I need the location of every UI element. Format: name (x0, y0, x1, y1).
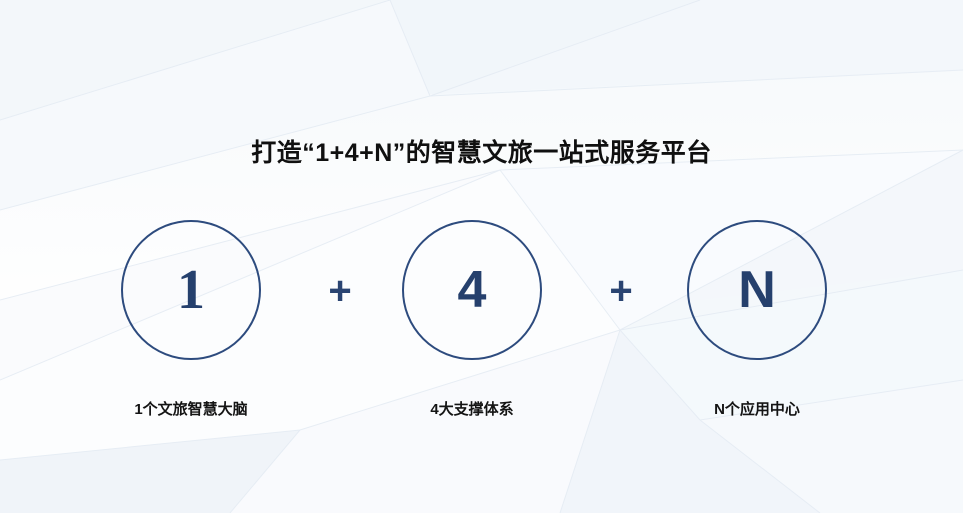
diagram-node-2[interactable]: 4 (402, 220, 542, 360)
plus-operator-2: + (598, 268, 644, 314)
slide-canvas: 打造“1+4+N”的智慧文旅一站式服务平台 1 + 4 + N 1个文旅智慧大脑… (0, 0, 963, 513)
node-caption-2: 4大支撑体系 (332, 398, 612, 419)
plus-operator-1: + (317, 268, 363, 314)
node-caption-1: 1个文旅智慧大脑 (51, 398, 331, 419)
node-numeral-2: 4 (402, 220, 542, 360)
formula-diagram: 1 + 4 + N 1个文旅智慧大脑 4大支撑体系 N个应用中心 (0, 0, 963, 513)
node-numeral-3: N (687, 220, 827, 360)
node-caption-3: N个应用中心 (617, 398, 897, 419)
diagram-node-3[interactable]: N (687, 220, 827, 360)
diagram-node-1[interactable]: 1 (121, 220, 261, 360)
node-numeral-1: 1 (121, 220, 261, 360)
